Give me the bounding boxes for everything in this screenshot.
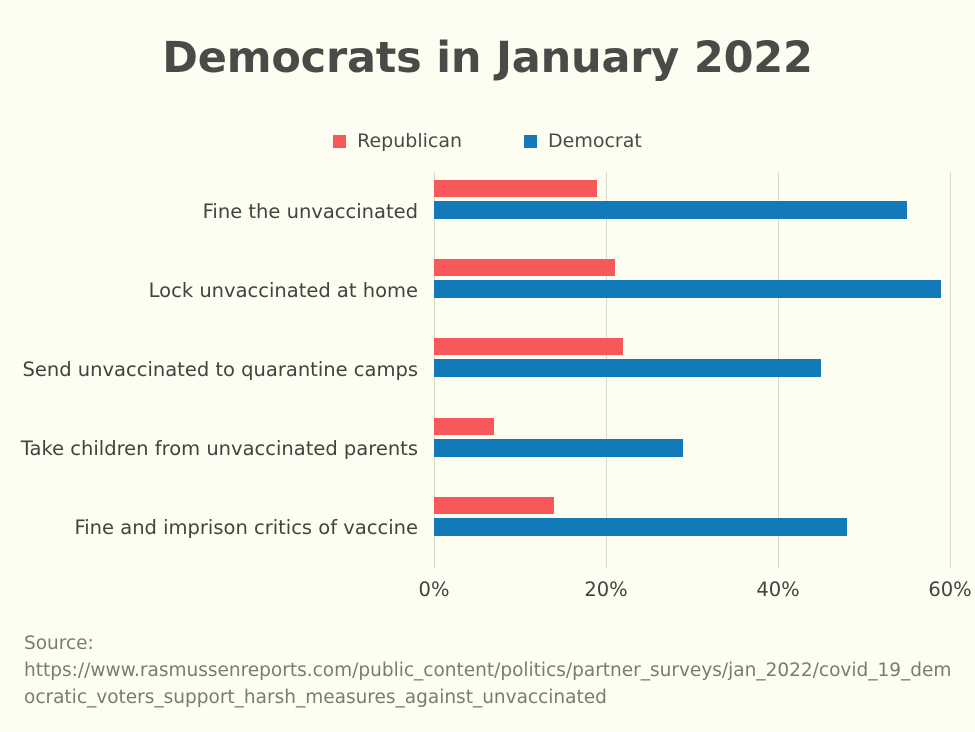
bar-democrat[interactable] bbox=[434, 201, 907, 219]
bar-democrat[interactable] bbox=[434, 439, 683, 457]
legend-swatch-republican bbox=[333, 135, 346, 148]
category-label: Take children from unvaccinated parents bbox=[21, 437, 418, 461]
legend-label-republican: Republican bbox=[357, 130, 462, 152]
x-tick-label: 20% bbox=[584, 578, 627, 602]
category-label: Fine and imprison critics of vaccine bbox=[74, 516, 418, 540]
bar-republican[interactable] bbox=[434, 418, 494, 435]
source-note: Source: https://www.rasmussenreports.com… bbox=[24, 630, 954, 711]
bar-democrat[interactable] bbox=[434, 518, 847, 536]
bar-group bbox=[434, 330, 950, 409]
bar-group bbox=[434, 410, 950, 489]
bar-democrat[interactable] bbox=[434, 280, 941, 298]
bar-republican[interactable] bbox=[434, 338, 623, 355]
x-axis-tick-labels: 0%20%40%60% bbox=[0, 578, 975, 604]
chart-legend: Republican Democrat bbox=[0, 128, 975, 154]
source-label: Source: bbox=[24, 630, 954, 657]
legend-item-democrat[interactable]: Democrat bbox=[524, 128, 642, 154]
category-label: Send unvaccinated to quarantine camps bbox=[22, 358, 418, 382]
bar-group bbox=[434, 251, 950, 330]
x-tick-label: 40% bbox=[756, 578, 799, 602]
bar-republican[interactable] bbox=[434, 259, 615, 276]
bar-group bbox=[434, 489, 950, 568]
legend-swatch-democrat bbox=[524, 135, 537, 148]
source-url: https://www.rasmussenreports.com/public_… bbox=[24, 657, 954, 711]
legend-item-republican[interactable]: Republican bbox=[333, 128, 462, 154]
x-tick-label: 0% bbox=[419, 578, 450, 602]
bar-democrat[interactable] bbox=[434, 359, 821, 377]
bar-republican[interactable] bbox=[434, 497, 554, 514]
category-axis: Fine the unvaccinatedLock unvaccinated a… bbox=[0, 172, 434, 568]
bar-group bbox=[434, 172, 950, 251]
bar-republican[interactable] bbox=[434, 180, 597, 197]
plot-area bbox=[434, 172, 950, 568]
x-tick-label: 60% bbox=[928, 578, 971, 602]
category-label: Fine the unvaccinated bbox=[203, 200, 418, 224]
legend-label-democrat: Democrat bbox=[548, 130, 642, 152]
category-label: Lock unvaccinated at home bbox=[149, 279, 418, 303]
gridline-60% bbox=[950, 172, 951, 568]
chart-title: Democrats in January 2022 bbox=[0, 32, 975, 84]
chart-figure: Democrats in January 2022 Republican Dem… bbox=[0, 0, 975, 732]
